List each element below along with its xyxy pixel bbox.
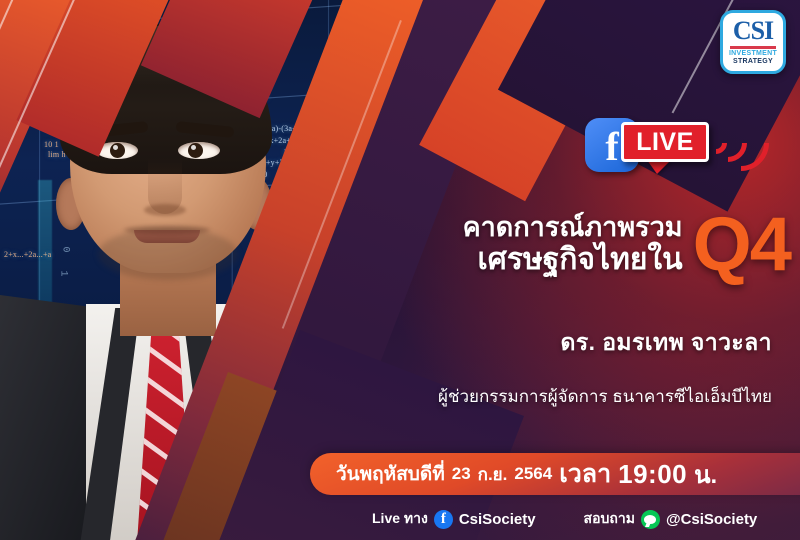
facebook-handle: CsiSociety — [459, 511, 536, 528]
facebook-f-icon: f — [434, 510, 453, 529]
headline-text: คาดการณ์ภาพรวม เศรษฐกิจไทยใน — [463, 214, 683, 276]
headline-block: คาดการณ์ภาพรวม เศรษฐกิจไทยใน Q4 — [430, 212, 790, 277]
pupil-right — [188, 143, 203, 158]
schedule-time-suffix: น. — [694, 455, 717, 494]
csi-logo: CSI INVESTMENT STRATEGY — [720, 10, 786, 74]
schedule-time-label: เวลา — [559, 454, 611, 494]
schedule-bar: วันพฤหัสบดีที่ 23 ก.ย. 2564 เวลา 19:00 น… — [310, 453, 800, 495]
speaker-title: ผู้ช่วยกรรมการผู้จัดการ ธนาคารซีไอเอ็มบี… — [438, 383, 772, 410]
csi-logo-subtitle-2: STRATEGY — [733, 58, 773, 66]
facebook-live-badge: f LIVE — [585, 110, 755, 178]
live-bubble-tail-icon — [647, 160, 671, 174]
schedule-time: 19:00 — [618, 459, 687, 490]
schedule-year: 2564 — [514, 464, 552, 484]
line-link-label: สอบถาม — [584, 508, 635, 530]
csi-logo-wordmark: CSI — [733, 18, 773, 44]
facebook-link[interactable]: Live ทาง f CsiSociety — [372, 508, 536, 530]
social-links-row: Live ทาง f CsiSociety สอบถาม @CsiSociety — [372, 506, 772, 532]
schedule-day-prefix: วันพฤหัสบดีที่ — [336, 459, 445, 489]
headline-line-1: คาดการณ์ภาพรวม — [463, 214, 683, 242]
csi-logo-subtitle-1: INVESTMENT — [729, 50, 777, 58]
schedule-month: ก.ย. — [478, 461, 508, 488]
headline-line-2: เศรษฐกิจไทยใน — [463, 245, 683, 276]
line-link[interactable]: สอบถาม @CsiSociety — [584, 508, 758, 530]
live-event-poster: (1+x+y+2a) 2a+2! >0 (1+x+y+2a)-(3a+3g+a)… — [0, 0, 800, 540]
line-handle: @CsiSociety — [666, 511, 757, 528]
facebook-link-label: Live ทาง — [372, 508, 428, 530]
headline-quarter: Q4 — [693, 212, 790, 277]
speaker-name: ดร. อมรเทพ จาวะลา — [561, 325, 772, 361]
live-label: LIVE — [636, 130, 694, 155]
mouth — [134, 230, 200, 243]
csi-logo-rule — [730, 46, 776, 49]
line-chat-icon — [641, 510, 660, 529]
schedule-day: 23 — [452, 464, 471, 484]
pupil-left — [110, 143, 125, 158]
nose — [148, 158, 182, 214]
live-label-box: LIVE — [621, 122, 709, 162]
